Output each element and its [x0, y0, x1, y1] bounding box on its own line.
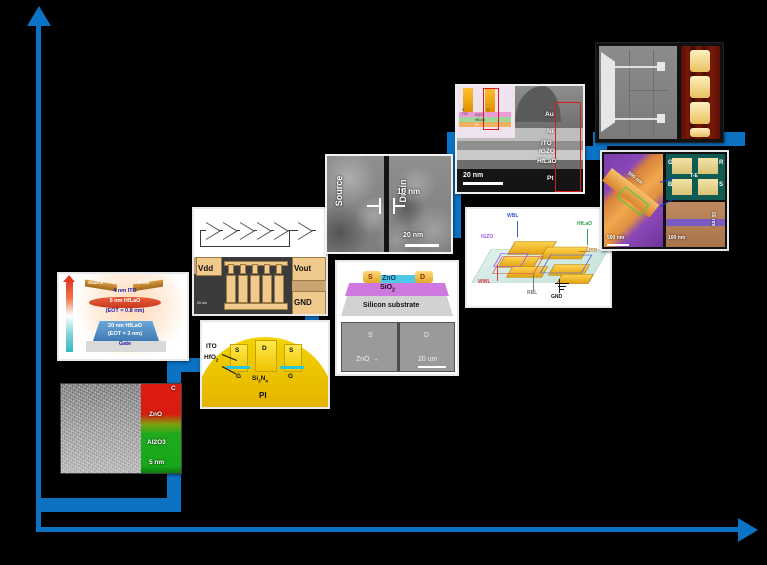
channel-gap	[384, 156, 389, 252]
label-ito: ITO	[541, 141, 552, 148]
scalebar-label: 5 nm	[149, 460, 164, 467]
wbl-label: WBL	[507, 214, 518, 219]
panel-3d-memory-array: WBL IGZO HfLaO ITO WWL RBL GND	[465, 207, 612, 308]
local-efield-colorbar	[66, 280, 73, 352]
label-igzo: IGZO	[539, 149, 555, 156]
colorbar-label: Local E-field	[57, 272, 61, 290]
cross-section-zoom: 50 nm 100 nm	[666, 202, 725, 247]
ro-scalebar-label: 20 um	[197, 301, 207, 305]
gate-dielectric-label: 5 nm HfLaO	[87, 299, 163, 305]
contact-pad-left	[601, 52, 615, 132]
channel-label: 4 nm ITO	[87, 289, 163, 295]
x-axis	[38, 527, 748, 532]
sem-micrograph	[599, 46, 677, 139]
inset-igzo-label: IGZO	[475, 113, 484, 117]
drain-label: Drain	[138, 281, 150, 286]
wbl-leader	[517, 221, 518, 237]
gold-stripe-2	[690, 76, 710, 98]
drain-label: D	[262, 346, 267, 353]
substrate-label: Silicon substrate	[363, 302, 419, 309]
gold-stripe-3	[690, 102, 710, 124]
channel-label: ZnO	[382, 275, 396, 282]
zno-tft-schematic: S ZnO D SiO2 Silicon substrate	[337, 262, 457, 320]
source-label-right: S	[289, 348, 293, 355]
gnd-symbol-icon-2	[558, 286, 566, 287]
panel-gate-stack-schematic: Local E-field Source Drain 4 nm ITO 5 nm…	[57, 272, 189, 361]
afm-stripe-image	[681, 46, 720, 139]
rbl-label: RBL	[527, 291, 537, 296]
panel-zno-tft: S ZnO D SiO2 Silicon substrate S D ZnO →…	[335, 260, 459, 376]
gate-dielectric-eot-label: (EOT = 0.8 nm)	[85, 309, 165, 315]
trace-vertical-1	[629, 50, 630, 136]
sem-source-label: S	[368, 332, 373, 339]
vout-label: Vout	[294, 265, 311, 273]
source-label: Source	[88, 281, 103, 286]
hflao-label: HfLaO	[577, 222, 592, 227]
purple-layer	[666, 219, 725, 226]
hflao-leader	[587, 229, 588, 245]
inset-pt-label: Pt	[475, 123, 478, 127]
vdd-label: Vdd	[198, 265, 213, 273]
hrtem-image	[61, 384, 141, 473]
gnd-symbol-icon	[555, 283, 569, 284]
panel-tem-eels: C ZnO Al2O3 5 nm	[60, 383, 182, 474]
scalebar-label: 20 nm	[403, 232, 423, 239]
ito-film-right	[280, 366, 304, 369]
bottom-dielectric-eot-label: (EOT = 3 nm)	[87, 332, 163, 338]
ring-oscillator-schematic	[194, 209, 326, 257]
probe-tip-bottom	[657, 114, 665, 123]
hfo2-label: HfO2	[204, 355, 218, 363]
pad-b	[672, 179, 692, 195]
panel-flexible-tft: ITO HfO2 S D S G G Si3N4 PI	[200, 320, 330, 409]
zno-tft-sem: S D ZnO → 20 um	[341, 322, 455, 372]
ito-leader	[579, 251, 589, 252]
source-label: S	[368, 274, 373, 281]
probe-wire-top	[615, 66, 659, 68]
source-label-left: S	[235, 348, 239, 355]
pad-b-label: B	[668, 182, 672, 188]
figure-canvas: Local E-field Source Drain 4 nm ITO 5 nm…	[0, 0, 767, 565]
wwl-leader	[497, 265, 498, 281]
probe-tip-top	[657, 62, 665, 71]
gold-stripe-1	[690, 50, 710, 72]
wwl-label: WWL	[478, 280, 491, 285]
scalebar	[463, 182, 503, 185]
sin-label: Si3N4	[252, 376, 268, 384]
gate-label-right: G	[288, 374, 293, 381]
panel-sem-topview	[595, 42, 724, 143]
gold-stripe-4	[690, 128, 710, 137]
zno-layer-label: ZnO	[149, 412, 162, 419]
bottom-dielectric-label: 20 nm HfLaO	[87, 324, 163, 330]
panel-stack-tem: S ITO IGZO HfLaO Pt D Au Ni ITO IGZO HfL…	[455, 84, 585, 194]
probe-wire-bottom	[615, 118, 659, 120]
x-axis-arrowhead-icon	[738, 518, 758, 542]
gnd-label: GND	[294, 299, 312, 307]
colorbar-arrow-icon	[63, 275, 75, 282]
staircase-step-1	[41, 498, 181, 512]
ito-label: ITO	[206, 344, 217, 351]
rbl-leader	[533, 273, 534, 291]
panel-afm-device: 500 nm 500 nm G R B S T-E 50 nm 100 nm	[600, 150, 729, 251]
via-left	[463, 88, 473, 112]
zoom-scalebar-label: 100 nm	[668, 236, 685, 241]
y-axis	[36, 22, 41, 532]
drain-label: D	[420, 274, 425, 281]
label-au: Au	[545, 112, 554, 119]
sem-channel-label: ZnO →	[356, 356, 379, 363]
carbon-label: C	[171, 386, 176, 393]
sio2-layer-block	[345, 283, 449, 296]
inset-highlight-box	[483, 88, 499, 130]
inset-ito-label: ITO	[462, 112, 468, 116]
gate-label: Gate	[87, 342, 163, 348]
inset-drain-label: D	[487, 108, 490, 112]
afm-scalebar	[607, 244, 629, 246]
igzo-label: IGZO	[481, 235, 493, 240]
source-label: Source	[334, 165, 344, 217]
sem-channel-gap	[397, 323, 400, 371]
gnd-symbol-icon-3	[560, 289, 564, 290]
pad-center-label: T-E	[690, 173, 698, 179]
pad-s	[698, 179, 718, 195]
afm-colored-micrograph: 500 nm 500 nm	[604, 154, 663, 247]
pad-g	[672, 158, 692, 174]
afm-scalebar-label: 500 nm	[607, 236, 624, 241]
ito-film-left	[226, 366, 250, 369]
thickness-label: 50 nm	[710, 212, 715, 226]
pad-r	[698, 158, 718, 174]
scalebar	[405, 244, 439, 247]
sem-scalebar	[418, 366, 446, 368]
pad-r-label: R	[719, 160, 723, 166]
panel-tem-channel-gap: Source Drain 10 nm 20 nm	[325, 154, 453, 254]
y-axis-arrowhead-icon	[27, 6, 51, 26]
device-schematic-inset: S ITO IGZO HfLaO Pt D	[457, 86, 515, 138]
sem-scalebar-label: 20 um	[418, 356, 437, 363]
trace-vertical-2	[653, 50, 654, 136]
gnd-label: GND	[551, 295, 562, 300]
gap-length-label: 10 nm	[397, 188, 420, 196]
sem-drain-label: D	[424, 332, 429, 339]
pad-s-label: S	[719, 182, 723, 188]
trace-horizontal	[629, 90, 669, 91]
gap-tick-left	[379, 198, 381, 214]
roi-box	[555, 102, 581, 192]
panel-ring-oscillator: 20 um Vdd Vout GND	[192, 207, 328, 316]
label-ni: Ni	[547, 129, 554, 136]
inset-hflao-label: HfLaO	[475, 118, 485, 122]
sio2-label: SiO2	[380, 284, 395, 293]
gap-arrow-left	[367, 205, 379, 207]
label-hflao: HfLaO	[537, 159, 557, 166]
label-pt: Pt	[547, 176, 554, 183]
alumina-layer-label: Al2O3	[147, 440, 166, 447]
pi-label: PI	[259, 392, 267, 400]
gate-label-left: G	[236, 374, 241, 381]
scalebar-label: 20 nm	[463, 172, 483, 179]
gap-arrow-right	[393, 205, 405, 207]
pad-g-label: G	[668, 160, 673, 166]
ito-label: ITO	[589, 249, 597, 254]
